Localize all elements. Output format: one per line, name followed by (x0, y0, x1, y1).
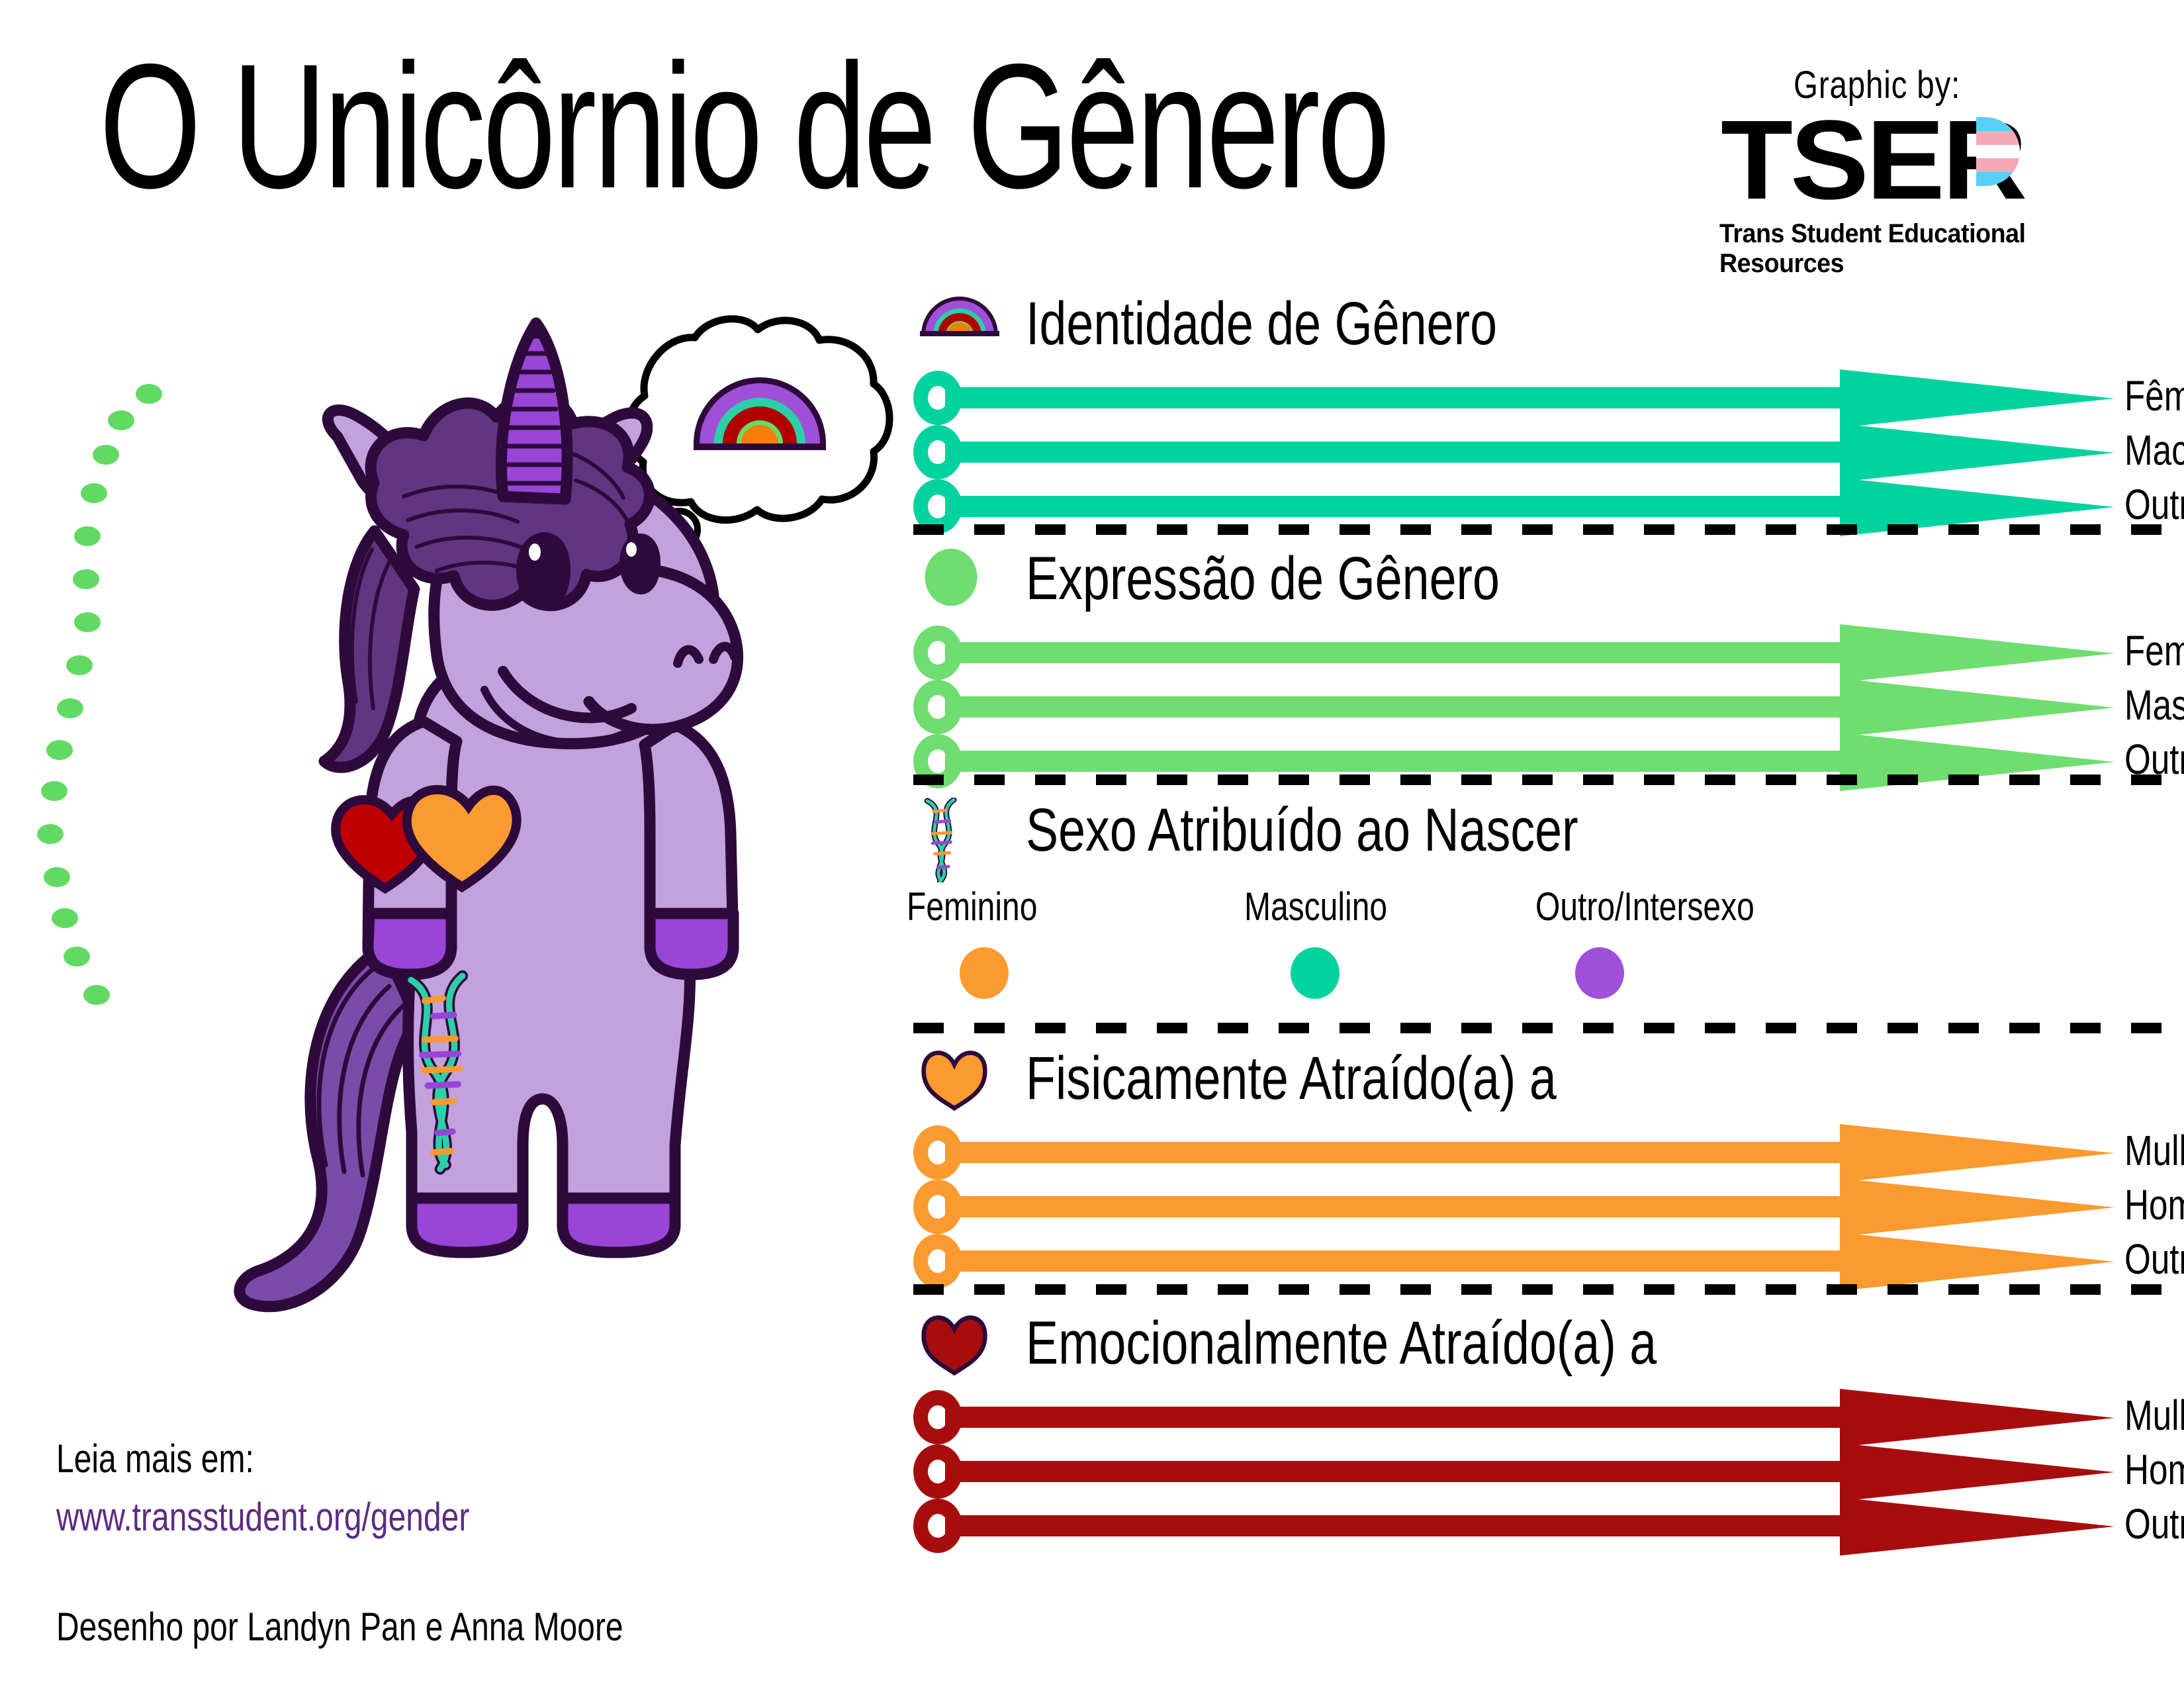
spectrum-arrowhead (1840, 424, 2115, 482)
sex-assigned-options: FemininoMasculinoOutro/Intersexo (913, 877, 2171, 1029)
spectrum-row[interactable]: Masculina (913, 680, 2171, 734)
decorative-dot (44, 867, 70, 887)
section-sex-assigned-at-birth: Sexo Atribuído ao NascerFemininoMasculin… (913, 798, 2171, 1029)
red-heart-icon (920, 1311, 999, 1383)
spectrum-bar[interactable] (945, 1407, 1848, 1428)
section-gender-expression: Expressão de GêneroFemininaMasculinaOutr… (913, 546, 2171, 788)
section-divider (913, 524, 2171, 535)
section-divider (913, 1284, 2171, 1295)
section-gender-identity: Identidade de GêneroFêmea/Mulher/MeninaM… (913, 291, 2171, 534)
section-physically-attracted-to: Fisicamente Atraído(a) aMulheresHomensOu… (913, 1046, 2171, 1288)
decorative-dot (74, 612, 101, 632)
spectrum-bar[interactable] (945, 751, 1848, 772)
decorative-dot (57, 698, 83, 718)
sab-option-dot[interactable] (1575, 947, 1624, 999)
spectrum-row[interactable]: Outro(s) Gênero(s) (913, 1234, 2171, 1288)
spectrum-bar[interactable] (945, 442, 1848, 463)
spectrum-row[interactable]: Mulheres (913, 1125, 2171, 1180)
spectrum-row[interactable]: Macho/Homem/Menino (913, 425, 2171, 479)
dna-icon (920, 798, 999, 870)
decorative-dot (83, 985, 110, 1005)
spectrum-arrowhead (1840, 1178, 2115, 1237)
read-more-label: Leia mais em: (56, 1430, 692, 1488)
sab-option-label: Masculino (1244, 884, 1387, 929)
spectrum-label: Homens (2124, 1442, 2184, 1497)
tser-full-name: Trans Student Educational Resources (1719, 219, 2150, 279)
spectrum-label: Mulheres (2124, 1387, 2184, 1443)
spectrum-row[interactable]: Fêmea/Mulher/Menina (913, 371, 2171, 425)
spectrum-label: Mulheres (2124, 1123, 2184, 1178)
sab-option-dot[interactable] (1291, 947, 1340, 999)
spectrum-row[interactable]: Outro(s) Gênero(s) (913, 1499, 2171, 1553)
spectrum-bar[interactable] (945, 496, 1848, 517)
spectrum-label: Fêmea/Mulher/Menina (2124, 368, 2184, 424)
spectrum-label: Homens (2124, 1177, 2184, 1233)
credit-line: Desenho por Landyn Pan e Anna Moore (56, 1598, 692, 1656)
decorative-dot (52, 908, 78, 928)
spectrum-bar[interactable] (945, 1142, 1848, 1163)
spectrum-arrowhead (1840, 679, 2115, 737)
spectrum-label: Macho/Homem/Menino (2124, 422, 2184, 478)
spectrum-arrowhead (1840, 624, 2115, 682)
decorative-dot (37, 824, 64, 844)
spectrum-label: Outro(s) Gênero(s) (2124, 1496, 2184, 1552)
spectrum-bar[interactable] (945, 1250, 1848, 1272)
decorative-dot (74, 526, 101, 546)
spectrum-row[interactable]: Homens (913, 1180, 2171, 1234)
section-divider (913, 774, 2171, 785)
spectrum-arrowhead (1840, 1497, 2115, 1556)
spectrum-row[interactable]: Mulheres (913, 1390, 2171, 1444)
spectrum-row[interactable]: Homens (913, 1444, 2171, 1499)
decorative-dot (46, 740, 73, 760)
spectrum-bar[interactable] (945, 1515, 1848, 1536)
sab-option-dot[interactable] (960, 947, 1009, 999)
decorative-dot (93, 445, 119, 465)
spectrum-panel: Identidade de GêneroFêmea/Mulher/MeninaM… (913, 291, 2171, 1688)
orange-heart-icon (920, 1046, 999, 1119)
section-title: Expressão de Gênero (1026, 542, 1500, 615)
tser-logo: Graphic by: TSER Trans Student Education… (1714, 63, 2177, 268)
spectrum-bar[interactable] (945, 1461, 1848, 1482)
spectrum-bar[interactable] (945, 387, 1848, 408)
sab-option-label: Feminino (907, 884, 1037, 929)
section-title: Emocionalmente Atraído(a) a (1026, 1307, 1657, 1380)
decorative-dot (81, 483, 107, 503)
spectrum-arrowhead (1840, 1389, 2115, 1447)
section-title: Sexo Atribuído ao Nascer (1026, 794, 1578, 867)
decorative-dot (41, 781, 68, 801)
spectrum-bar[interactable] (945, 642, 1848, 663)
decorative-dot (73, 569, 99, 589)
green-circle-icon (920, 546, 999, 619)
section-divider (913, 1023, 2171, 1033)
sab-option-label: Outro/Intersexo (1535, 884, 1754, 929)
spectrum-arrowhead (1840, 1124, 2115, 1182)
section-title: Fisicamente Atraído(a) a (1026, 1042, 1557, 1115)
spectrum-bar[interactable] (945, 1196, 1848, 1217)
spectrum-arrowhead (1840, 1233, 2115, 1291)
rainbow-icon (920, 291, 999, 364)
section-emotionally-attracted-to: Emocionalmente Atraído(a) aMulheresHomen… (913, 1311, 2171, 1553)
spectrum-bar[interactable] (945, 696, 1848, 718)
decorative-dot (66, 655, 93, 675)
section-title: Identidade de Gênero (1026, 287, 1497, 360)
decorative-dot (64, 947, 90, 966)
spectrum-label: Feminina (2124, 623, 2184, 679)
spectrum-row[interactable]: Feminina (913, 626, 2171, 680)
footer: Leia mais em: www.transstudent.org/gende… (56, 1430, 850, 1656)
spectrum-label: Masculina (2124, 677, 2184, 733)
decorative-dot (136, 384, 162, 404)
website-link[interactable]: www.transstudent.org/gender (56, 1488, 692, 1546)
spectrum-label: Outro(s) Gênero(s) (2124, 1231, 2184, 1287)
spectrum-arrowhead (1840, 1443, 2115, 1501)
spectrum-arrowhead (1840, 369, 2115, 428)
unicorn-illustration (218, 285, 854, 1344)
decorative-dot (108, 410, 134, 430)
